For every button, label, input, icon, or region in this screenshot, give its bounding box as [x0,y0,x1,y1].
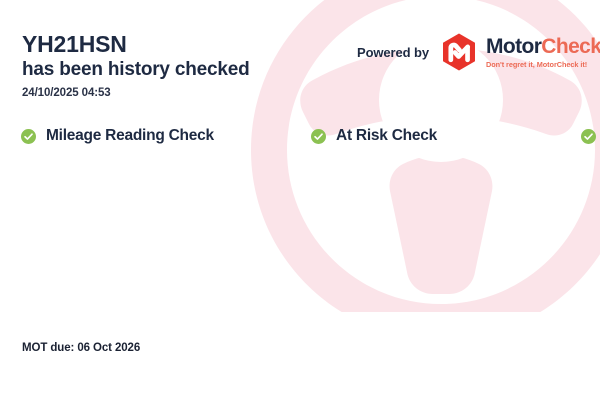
motorcheck-hexagon-icon [439,32,479,72]
wordmark-check: Check [541,35,600,58]
history-check-card: YH21HSN has been history checked 24/10/2… [0,0,600,400]
check-timestamp: 24/10/2025 04:53 [22,87,250,99]
list-item: At Risk Check [311,118,581,155]
vehicle-registration: YH21HSN [22,30,250,58]
check-circle-icon [581,129,596,144]
list-item: Write-Offs Check [581,118,600,155]
mot-due-text: MOT due: 06 Oct 2026 [22,342,140,354]
motorcheck-wordmark: MotorCheck [486,36,600,57]
list-item-label: Mileage Reading Check [46,127,214,145]
powered-by-label: Powered by [357,45,429,60]
list-item-label: At Risk Check [336,127,437,145]
checks-list: Mileage Reading Check At Risk Check Writ… [21,118,581,155]
header-block: YH21HSN has been history checked 24/10/2… [22,30,250,99]
brand-text: MotorCheck Don't regret it, MotorCheck i… [486,36,600,69]
brand-tagline: Don't regret it, MotorCheck it! [486,60,600,69]
list-item: Mileage Reading Check [21,118,311,155]
page-title: has been history checked [22,58,250,82]
check-circle-icon [21,129,36,144]
powered-by-brand: Powered by MotorCheck Don't regret it, M… [357,32,600,72]
wordmark-motor: Motor [486,35,541,58]
check-circle-icon [311,129,326,144]
